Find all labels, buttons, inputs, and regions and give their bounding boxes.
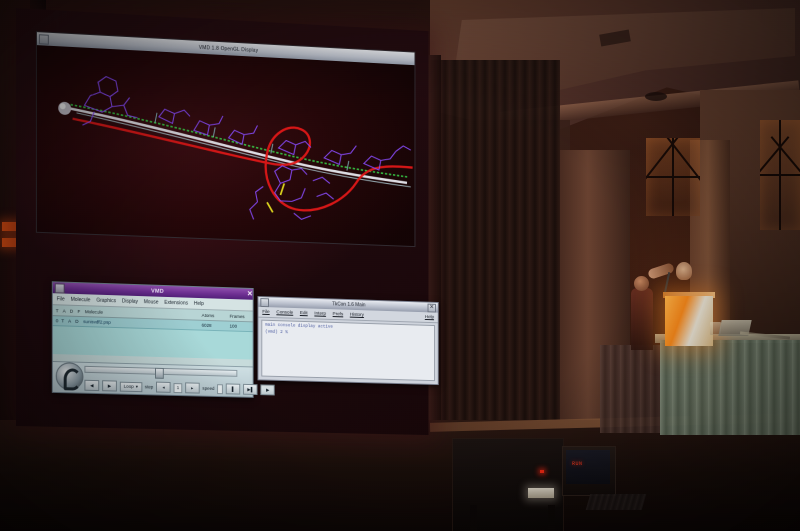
- play-icon[interactable]: ▶: [102, 380, 117, 391]
- step-forward-icon[interactable]: ▶: [261, 384, 275, 395]
- row-frames: 100: [230, 324, 253, 330]
- tkcon-menu-file[interactable]: File: [262, 309, 269, 314]
- frame-slider-thumb[interactable]: [155, 368, 164, 379]
- minimize-icon[interactable]: [55, 283, 65, 293]
- rack-display-panel: [528, 488, 554, 498]
- chevron-down-icon: ▾: [136, 384, 138, 390]
- molecule-list-body[interactable]: [53, 326, 253, 359]
- tkcon-menu-history[interactable]: History: [350, 312, 364, 317]
- vmd-main-window[interactable]: VMD ✕ File Molecule Graphics Display Mou…: [52, 281, 254, 398]
- backbone-tube-white: [71, 109, 407, 183]
- step-decrement-button[interactable]: ◂: [156, 382, 171, 393]
- column-flags: T A D F: [56, 308, 82, 314]
- playback-controls[interactable]: ◀ ▶ Loop ▾ step ◂ 1 ▸ speed ▌ ▶▌ ▶: [84, 380, 250, 395]
- speaker-hand: [676, 262, 692, 280]
- column-frames: Frames: [230, 313, 253, 319]
- skirted-table: [660, 340, 800, 435]
- row-molecule-name: sunisvdf2.psp: [83, 319, 199, 327]
- keyboard[interactable]: [586, 494, 647, 510]
- power-led-icon: [540, 470, 544, 473]
- frame-slider[interactable]: [84, 366, 237, 377]
- vmd-opengl-window[interactable]: VMD 1.8 OpenGL Display: [36, 31, 416, 247]
- stage-curtain: [430, 60, 560, 440]
- step-increment-button[interactable]: ▸: [185, 382, 200, 393]
- ceiling-vent-icon: [645, 92, 667, 101]
- cart-leg: [470, 505, 477, 531]
- residue-group-mid: [159, 109, 258, 145]
- loop-mode-select[interactable]: Loop ▾: [120, 381, 142, 391]
- speed-label: speed: [202, 386, 214, 391]
- tkcon-menu-interp[interactable]: Interp: [314, 311, 326, 316]
- backbone-tube-red: [73, 117, 413, 215]
- row-index: 0: [56, 318, 59, 323]
- menu-display[interactable]: Display: [122, 298, 138, 304]
- minimize-icon[interactable]: [39, 34, 49, 45]
- tkcon-menu-edit[interactable]: Edit: [300, 311, 308, 316]
- illuminated-podium: [665, 296, 713, 346]
- grille-bar: [646, 176, 700, 178]
- row-flags[interactable]: T A D: [61, 318, 80, 324]
- side-table-skirt: [600, 345, 666, 433]
- tkcon-menu-console[interactable]: Console: [276, 310, 293, 315]
- speed-thumb[interactable]: ▌: [226, 383, 240, 394]
- molecule-render: [37, 45, 415, 246]
- menu-file[interactable]: File: [57, 296, 65, 302]
- projection-screen: VMD 1.8 OpenGL Display: [16, 8, 428, 435]
- backbone-ribbon-green: [71, 105, 409, 178]
- loop-label: Loop: [124, 384, 134, 389]
- menubar-spacer: [371, 315, 419, 317]
- tkcon-window[interactable]: TkCon 1.6 Main ✕ File Console Edit Inter…: [257, 296, 438, 385]
- grille-bar: [760, 174, 800, 176]
- menu-help[interactable]: Help: [194, 300, 204, 306]
- window-grille-left: [646, 138, 700, 216]
- vmd-opengl-title: VMD 1.8 OpenGL Display: [199, 44, 258, 53]
- speaker-body: [631, 288, 653, 350]
- tkcon-menu-help[interactable]: Help: [425, 315, 434, 320]
- close-icon[interactable]: ✕: [247, 290, 253, 298]
- monitor-screen: [566, 450, 610, 484]
- monitor-status-text: RUN: [572, 461, 583, 467]
- menu-mouse[interactable]: Mouse: [144, 299, 159, 305]
- residue-group-left: [82, 75, 137, 127]
- vmd-logo-icon: [56, 362, 84, 391]
- menu-molecule[interactable]: Molecule: [71, 296, 91, 303]
- auditorium-photo: VMD 1.8 OpenGL Display: [0, 0, 800, 531]
- molecule-canvas[interactable]: [37, 45, 415, 246]
- step-label: step: [145, 384, 153, 389]
- column-atoms: Atoms: [202, 312, 227, 318]
- minimize-icon[interactable]: [260, 298, 269, 307]
- stage-floor: [0, 420, 800, 531]
- animation-controls[interactable]: ◀ ▶ Loop ▾ step ◂ 1 ▸ speed ▌ ▶▌ ▶: [53, 361, 253, 397]
- cart-leg: [548, 505, 555, 531]
- menu-extensions[interactable]: Extensions: [164, 299, 188, 306]
- speed-slider[interactable]: [217, 384, 223, 394]
- column-molecule: Molecule: [85, 309, 199, 318]
- step-value-field[interactable]: 1: [174, 383, 182, 393]
- ribbon-markers: [155, 113, 349, 171]
- step-back-icon[interactable]: ◀: [84, 380, 99, 391]
- residue-group-loop: [250, 164, 334, 222]
- menu-graphics[interactable]: Graphics: [96, 297, 116, 304]
- jump-end-icon[interactable]: ▶▌: [243, 384, 257, 395]
- close-icon[interactable]: ✕: [428, 303, 436, 312]
- window-grille-right: [760, 120, 800, 230]
- row-atoms: 6028: [202, 323, 227, 329]
- speaker-head: [634, 276, 649, 291]
- tkcon-menu-prefs[interactable]: Prefs: [333, 312, 344, 317]
- tkcon-console-output[interactable]: main console display active (vmd) 2 %: [261, 320, 435, 381]
